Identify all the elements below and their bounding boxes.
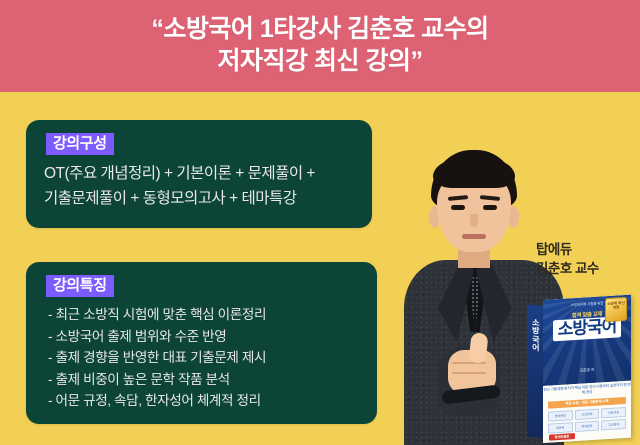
header-title-line-2: 저자직강 최신 강의” [218, 46, 423, 78]
book-topic-cell: 현대문법 [548, 410, 573, 422]
book-spine-title: 소방국어 [529, 319, 542, 354]
course-composition-body: OT(주요 개념정리) + 기본이론 + 문제풀이 + 기출문제풀이 + 동형모… [44, 161, 372, 211]
course-feature-item: - 최근 소방직 시험에 맞춘 핵심 이론정리 [48, 304, 377, 325]
knuckle-line-2 [452, 372, 486, 374]
course-feature-item: - 소방국어 출제 범위와 수준 반영 [48, 326, 377, 347]
book-topic-cell: 고전문학 [601, 419, 626, 431]
eye-left [451, 205, 465, 210]
instructor-credit: 탑에듀 김춘호 교수 [536, 240, 599, 278]
book-topic-cell: 비문학 [548, 422, 573, 434]
course-features-panel: 강의특징 - 최근 소방직 시험에 맞춘 핵심 이론정리 - 소방국어 출제 범… [26, 262, 377, 424]
course-feature-item: - 출제 경향을 반영한 대표 기출문제 제시 [48, 347, 377, 368]
course-composition-panel: 강의구성 OT(주요 개념정리) + 기본이론 + 문제풀이 + 기출문제풀이 … [26, 120, 372, 228]
course-composition-line: 기출문제풀이 + 동형모의고사 + 테마특강 [44, 186, 372, 211]
book-topic-cell: 현대문학 [575, 421, 600, 433]
instructor-name: 김춘호 교수 [536, 259, 599, 278]
hair-fringe [433, 158, 515, 188]
mouth [462, 234, 486, 239]
course-composition-label: 강의구성 [46, 133, 114, 155]
book-cover-bottom: 최신 기출경향 분석과 핵심 이론 정리 이론부터 실전까지 한 번에 완성 핵… [543, 381, 631, 443]
book-badge: 소방직 최신개정 [605, 297, 627, 322]
book-spine: 소방국어 [527, 305, 544, 438]
course-features-label: 강의특징 [46, 275, 114, 297]
book-topic-cell: 고전문법 [575, 409, 600, 421]
book-blurb: 최신 기출경향 분석과 핵심 이론 정리 이론부터 실전까지 한 번에 완성 [543, 383, 631, 399]
publisher-logo: 탑에듀출판 [549, 433, 575, 441]
header-banner: “소방국어 1타강사 김춘호 교수의 저자직강 최신 강의” [0, 0, 640, 92]
academy-name: 탑에듀 [536, 240, 599, 259]
course-composition-line: OT(주요 개념정리) + 기본이론 + 문제풀이 + [44, 161, 372, 186]
book-topic-grid: 현대문법 고전문법 어문규정 비문학 현대문학 고전문학 [548, 407, 626, 434]
book-front-cover: 소방공무원 시험을 위한 합격 맞춤 교재 소방국어 김춘호 저 소방직 최신개… [543, 295, 631, 443]
eye-right [483, 205, 497, 210]
nose [470, 214, 478, 227]
book-topic-cell: 어문규정 [601, 407, 626, 419]
advertisement-banner: “소방국어 1타강사 김춘호 교수의 저자직강 최신 강의” 탑에듀 김춘호 교… [0, 0, 640, 445]
header-title-line-1: “소방국어 1타강사 김춘호 교수의 [151, 14, 488, 46]
textbook-image: 소방국어 소방공무원 시험을 위한 합격 맞춤 교재 소방국어 김춘호 저 소방… [527, 300, 633, 445]
course-feature-item: - 어문 규정, 속담, 한자성어 체계적 정리 [48, 390, 377, 411]
course-feature-item: - 출제 비중이 높은 문학 작품 분석 [48, 369, 377, 390]
course-features-body: - 최근 소방직 시험에 맞춘 핵심 이론정리 - 소방국어 출제 범위와 수준… [48, 304, 377, 411]
